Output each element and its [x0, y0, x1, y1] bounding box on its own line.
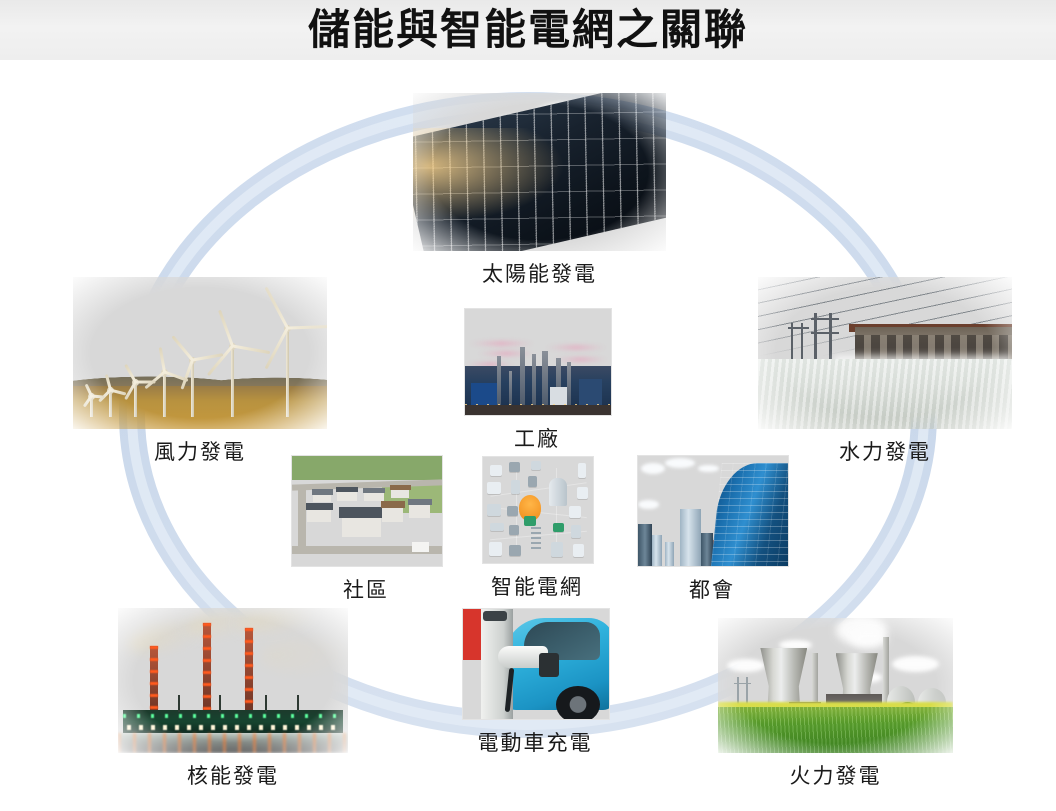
- hydroelectric-dam-photo: [758, 277, 1012, 429]
- wind-turbine-farm-photo: [73, 277, 327, 429]
- city-skyscrapers-photo: [637, 455, 789, 567]
- title-bar: 儲能與智能電網之關聯: [0, 0, 1056, 60]
- node-urban[interactable]: 都會: [637, 455, 787, 604]
- cooling-towers-with-grass-field-photo: [718, 618, 953, 753]
- power-plant-at-night-photo: [118, 608, 348, 753]
- node-factory[interactable]: 工廠: [464, 308, 610, 453]
- node-label-urban: 都會: [637, 574, 787, 604]
- suburban-neighborhood-aerial-photo: [291, 455, 443, 567]
- industrial-refinery-at-dusk-photo: [464, 308, 612, 416]
- node-label-community: 社區: [291, 574, 441, 604]
- node-smart-grid[interactable]: 智能電網: [482, 456, 592, 601]
- node-nuclear[interactable]: 核能發電: [118, 608, 348, 790]
- node-label-factory: 工廠: [464, 423, 610, 453]
- node-community[interactable]: 社區: [291, 455, 441, 604]
- node-thermal[interactable]: 火力發電: [718, 618, 953, 790]
- node-hydro[interactable]: 水力發電: [758, 277, 1012, 466]
- isometric-smart-grid-illustration: [482, 456, 594, 564]
- node-label-smart-grid: 智能電網: [482, 571, 592, 601]
- node-label-solar: 太陽能發電: [413, 258, 666, 288]
- node-label-ev-charging: 電動車充電: [462, 727, 608, 757]
- solar-panels-at-sunset-photo: [413, 93, 666, 251]
- node-label-hydro: 水力發電: [758, 436, 1012, 466]
- node-solar[interactable]: 太陽能發電: [413, 93, 666, 288]
- node-wind[interactable]: 風力發電: [73, 277, 327, 466]
- slide-canvas: 儲能與智能電網之關聯 太陽能發電: [0, 0, 1056, 811]
- node-label-thermal: 火力發電: [718, 760, 953, 790]
- node-ev-charging[interactable]: 電動車充電: [462, 608, 608, 757]
- node-label-wind: 風力發電: [73, 436, 327, 466]
- node-label-nuclear: 核能發電: [118, 760, 348, 790]
- electric-vehicle-charging-photo: [462, 608, 610, 720]
- page-title: 儲能與智能電網之關聯: [308, 9, 748, 51]
